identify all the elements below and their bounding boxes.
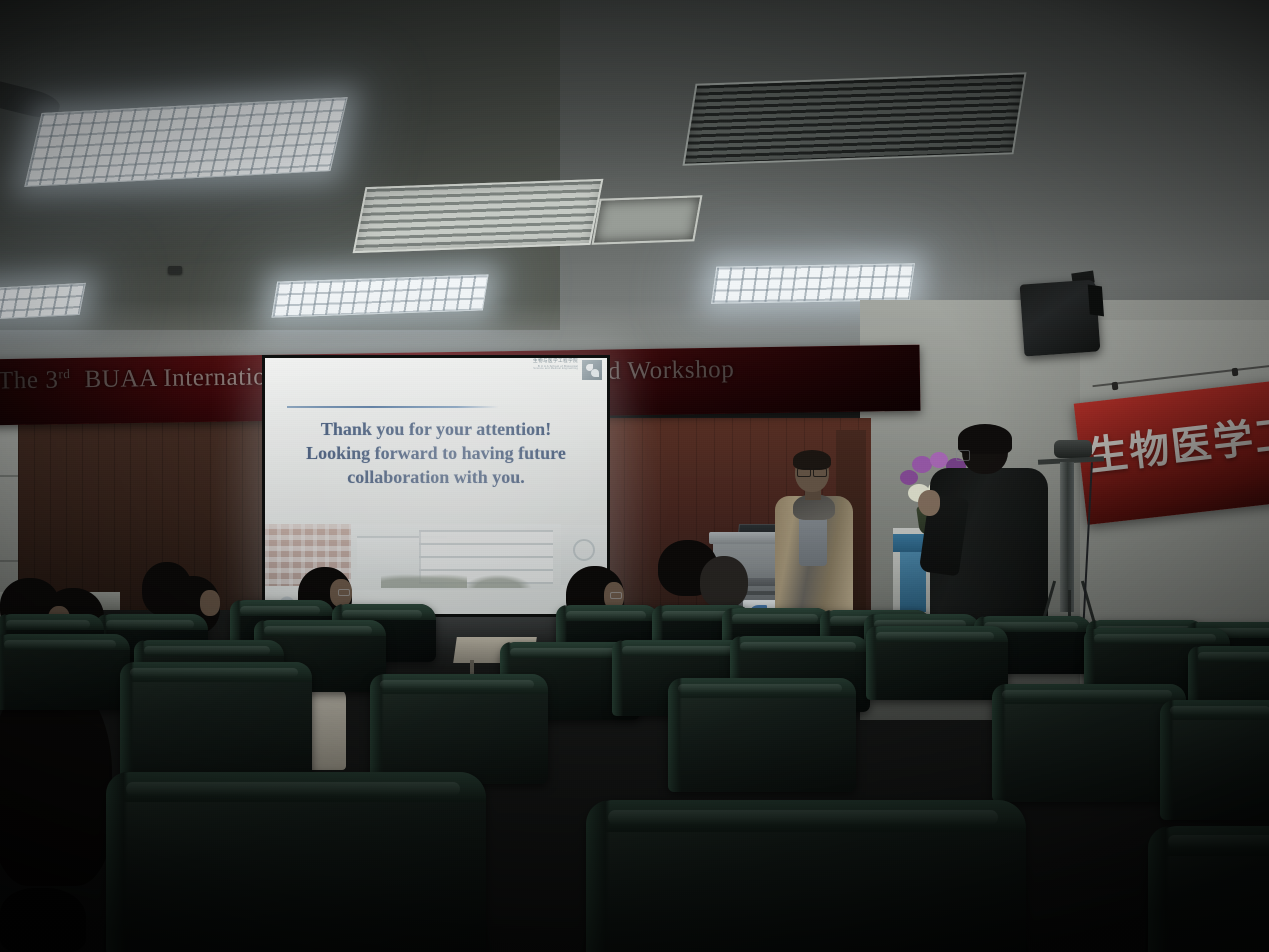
lecture-hall-photo: The 3rdBUAA Internationalessment Advance… [0, 0, 1269, 952]
camera-icon [1054, 440, 1092, 458]
flower-bloom [912, 456, 932, 473]
lamp-louver-grid [0, 284, 85, 320]
audience-glasses-icon [338, 589, 350, 596]
lamp-louver-grid [712, 264, 913, 302]
slide-logo-text: 生物与医学工程学院 B U A A School of Biological S… [533, 360, 578, 370]
slide-divider-rule [287, 406, 499, 408]
seat [106, 772, 486, 952]
ceiling-hvac-vent-3 [592, 195, 703, 245]
photo-campus-atrium [351, 524, 561, 590]
person-with-bouquet [930, 424, 1048, 630]
slide-line-2: Looking forward to having future [273, 442, 599, 466]
lamp-louver-grid [26, 98, 347, 186]
smoke-detector-icon [168, 266, 182, 274]
seat [1160, 700, 1269, 820]
seat [370, 674, 548, 784]
presenter-at-podium [775, 452, 853, 622]
photo-shrubs-2 [463, 574, 533, 588]
seat [668, 678, 856, 792]
vent-slats [685, 74, 1024, 163]
banner-clip-2 [1232, 368, 1239, 377]
seat [586, 800, 1026, 952]
slide-logo-english-2: Science and Medical Engineering [533, 368, 578, 371]
ceiling-light-panel-3 [711, 263, 915, 303]
flower-bloom [900, 470, 918, 485]
bouquet-person-glasses-icon [956, 450, 970, 461]
foreground-audience-shoulder [0, 888, 86, 952]
ceiling-hvac-vent-2 [353, 179, 604, 253]
presenter-glasses-icon [797, 468, 827, 475]
banner-clip-1 [1112, 382, 1119, 391]
audience-face [200, 590, 220, 616]
vent-slats [355, 181, 601, 251]
tripod-column [1060, 462, 1074, 612]
photo-shrubs [381, 572, 467, 588]
school-emblem-icon [582, 360, 602, 380]
audience-glasses-icon [610, 592, 622, 599]
chinese-banner-text: 生物医学工程研 [1084, 391, 1269, 482]
lamp-louver-grid [273, 275, 488, 316]
audience-head [700, 556, 748, 608]
chinese-banner: 生物医学工程研 [1074, 381, 1269, 525]
presenter-hair [793, 450, 831, 470]
ceiling-hvac-vent-1 [682, 72, 1026, 165]
seat [866, 626, 1008, 700]
seat [992, 684, 1186, 802]
seat [1148, 826, 1269, 952]
bouquet-person-hand [918, 490, 940, 516]
wall-speaker-icon [1020, 279, 1101, 356]
ceiling-light-panel-2 [271, 274, 488, 317]
slide-line-1: Thank you for your attention! [273, 418, 599, 442]
slide-logo: 生物与医学工程学院 B U A A School of Biological S… [497, 360, 602, 386]
seat [0, 634, 130, 710]
vent-slats [594, 197, 700, 242]
slide-body-text: Thank you for your attention! Looking fo… [265, 418, 607, 489]
slide-line-3: collaboration with you. [273, 466, 599, 490]
seat [120, 662, 312, 780]
